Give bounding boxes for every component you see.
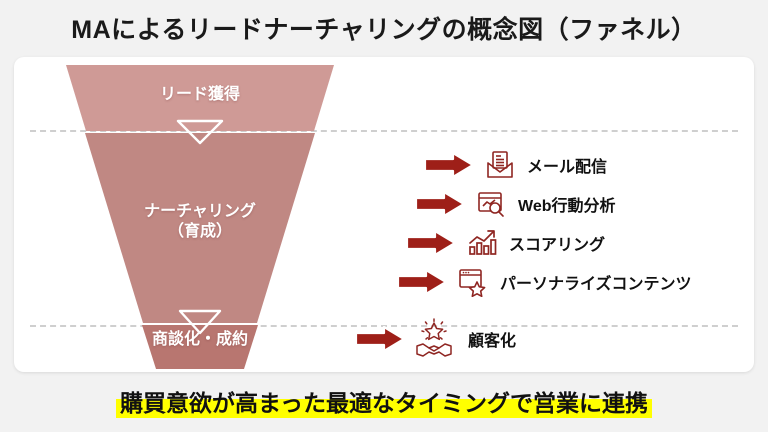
- banner-text-wrapper: 購買意欲が高まった最適なタイミングで営業に連携: [116, 386, 652, 420]
- email-envelope-icon: [483, 148, 517, 182]
- action-item-mail-delivery[interactable]: メール配信: [423, 145, 607, 185]
- action-label-scoring: スコアリング: [509, 231, 605, 255]
- arrow-right-icon: [414, 191, 466, 217]
- action-item-personalized-content[interactable]: パーソナライズコンテンツ: [396, 262, 692, 302]
- outcome-item-become-customer[interactable]: 顧客化: [354, 319, 516, 359]
- arrow-right-icon: [396, 269, 448, 295]
- action-label-web-behavior-analysis: Web行動分析: [518, 192, 616, 216]
- browser-star-icon: [456, 265, 490, 299]
- arrow-right-icon: [423, 152, 475, 178]
- arrow-right-icon: [354, 326, 406, 352]
- page-title: MAによるリードナーチャリングの概念図（ファネル）: [0, 10, 768, 46]
- arrow-right-icon: [405, 230, 457, 256]
- funnel-band-lead-acquisition: [14, 65, 754, 131]
- action-item-web-behavior-analysis[interactable]: Web行動分析: [414, 184, 616, 224]
- action-label-mail-delivery: メール配信: [527, 153, 607, 177]
- banner-text: 購買意欲が高まった最適なタイミングで営業に連携: [120, 390, 648, 416]
- funnel-chevron-2-icon: [174, 309, 226, 335]
- bar-chart-trend-icon: [465, 226, 499, 260]
- funnel-chevron-1-icon: [174, 119, 226, 145]
- funnel-card: リード獲得 ナーチャリング （育成） 商談化・成約: [14, 57, 754, 372]
- browser-magnifier-icon: [474, 187, 508, 221]
- action-label-personalized-content: パーソナライズコンテンツ: [500, 270, 692, 294]
- slide-canvas: MAによるリードナーチャリングの概念図（ファネル）: [0, 0, 768, 432]
- action-item-scoring[interactable]: スコアリング: [405, 223, 605, 263]
- handshake-star-icon: [412, 317, 456, 361]
- bottom-banner: 購買意欲が高まった最適なタイミングで営業に連携: [0, 386, 768, 420]
- outcome-label-become-customer: 顧客化: [468, 327, 516, 351]
